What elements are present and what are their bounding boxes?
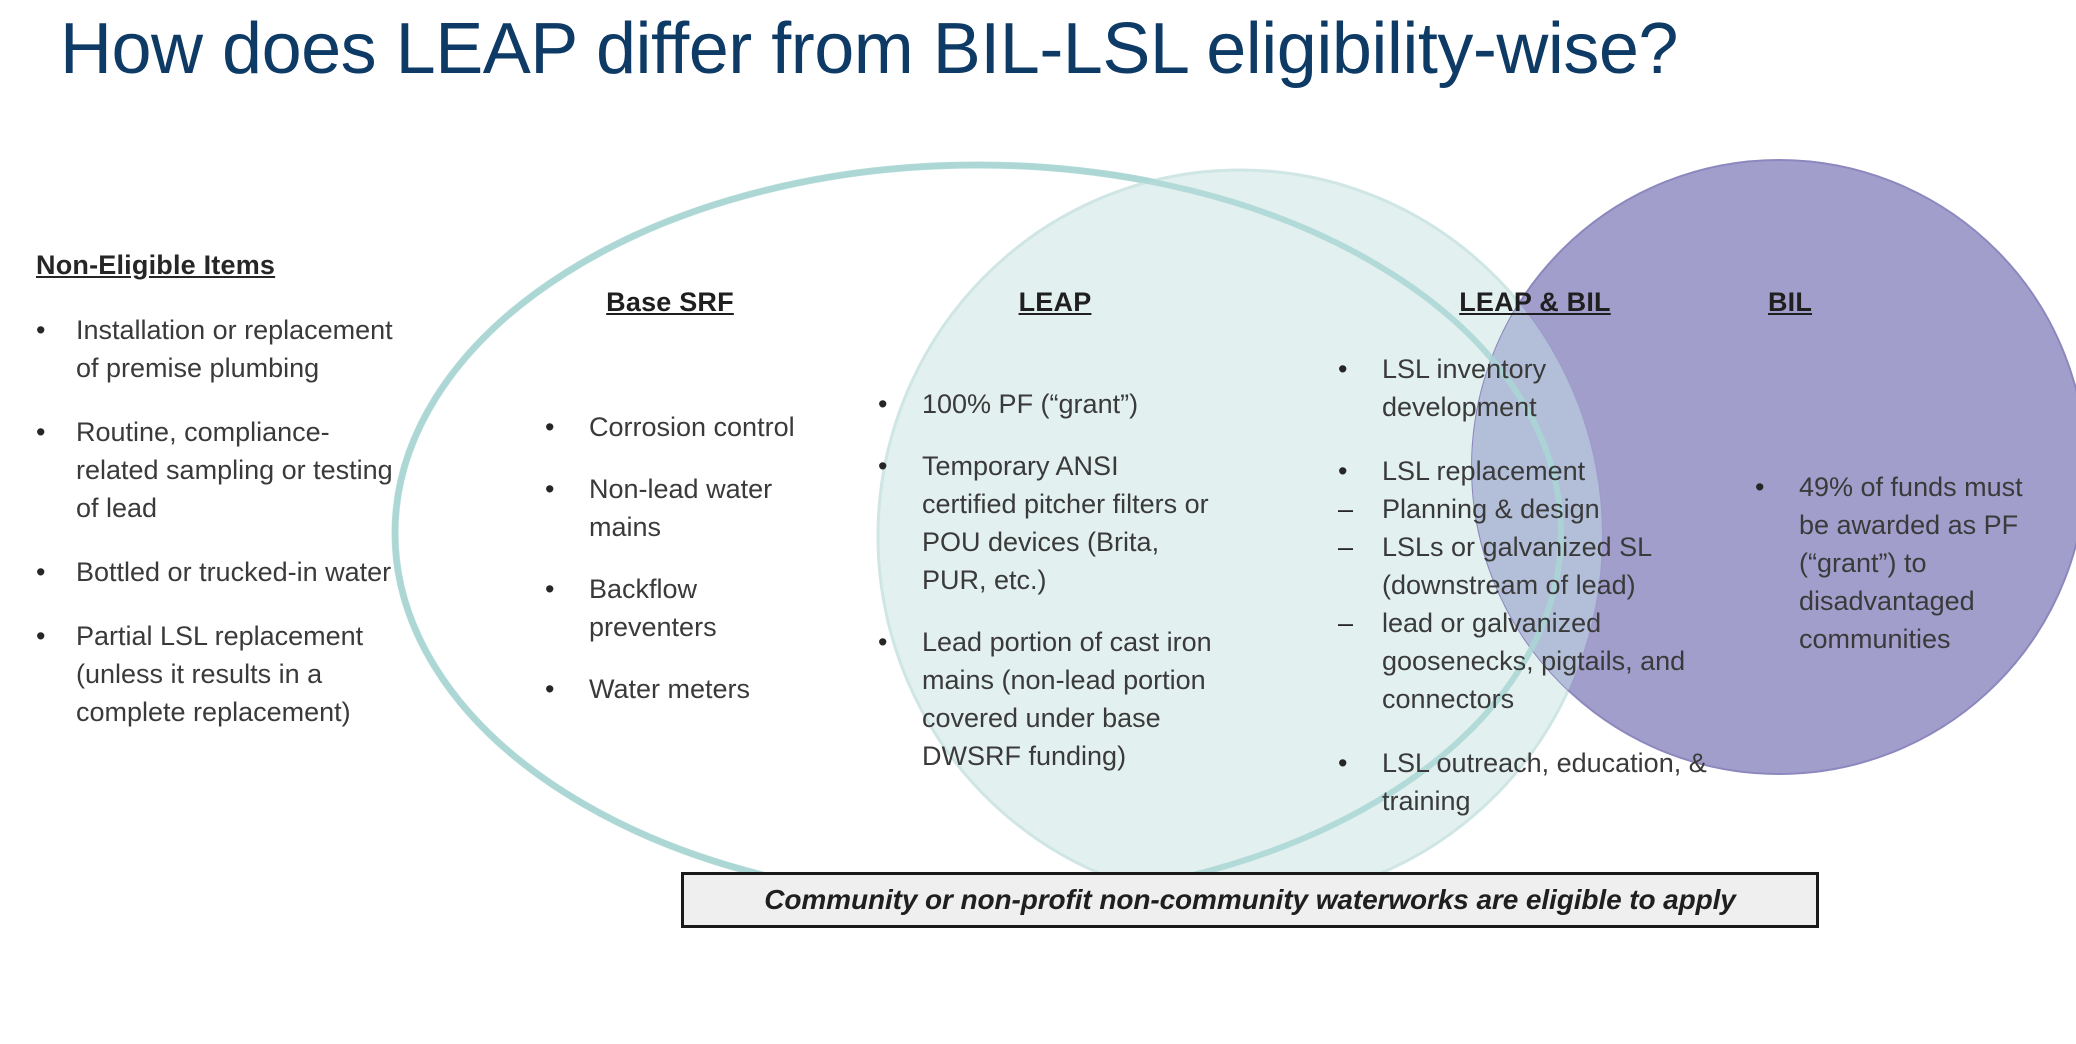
list-item: – Planning & design: [1338, 490, 1708, 528]
bullet-icon: •: [545, 408, 589, 446]
bullet-icon: •: [36, 617, 76, 731]
base-srf-list: • Corrosion control • Non-lead water mai…: [545, 408, 795, 732]
list-item: • Corrosion control: [545, 408, 795, 446]
list-item: • 49% of funds must be awarded as PF (“g…: [1755, 468, 2055, 658]
list-item: • Temporary ANSI certified pitcher filte…: [878, 447, 1218, 599]
list-item-label: 100% PF (“grant”): [922, 385, 1138, 423]
list-item: • LSL outreach, education, & training: [1338, 744, 1708, 820]
list-item: • Lead portion of cast iron mains (non-l…: [878, 623, 1218, 775]
list-item-label: Planning & design: [1382, 490, 1600, 528]
leap-column: LEAP: [960, 287, 1150, 318]
leap-and-bil-column: LEAP & BIL: [1385, 287, 1685, 318]
list-item: • Bottled or trucked-in water: [36, 553, 396, 591]
list-item-label: Backflow preventers: [589, 570, 795, 646]
bullet-icon: •: [1338, 452, 1382, 490]
bullet-icon: •: [36, 311, 76, 387]
bullet-icon: •: [36, 413, 76, 527]
non-eligible-heading: Non-Eligible Items: [36, 250, 396, 281]
bullet-icon: •: [878, 623, 922, 775]
list-item-label: LSL outreach, education, & training: [1382, 744, 1708, 820]
dash-icon: –: [1338, 528, 1382, 604]
bil-list: • 49% of funds must be awarded as PF (“g…: [1755, 468, 2055, 682]
list-item: • Partial LSL replacement (unless it res…: [36, 617, 396, 731]
bullet-icon: •: [36, 553, 76, 591]
bullet-icon: •: [1338, 744, 1382, 820]
list-item: • Backflow preventers: [545, 570, 795, 646]
list-item-label: LSL inventory development: [1382, 350, 1708, 426]
dash-icon: –: [1338, 490, 1382, 528]
list-item-label: Lead portion of cast iron mains (non-lea…: [922, 623, 1218, 775]
list-item: • LSL inventory development: [1338, 350, 1708, 426]
bullet-icon: •: [878, 447, 922, 599]
bullet-icon: •: [1755, 468, 1799, 658]
base-srf-heading: Base SRF: [555, 287, 785, 318]
leap-heading: LEAP: [960, 287, 1150, 318]
list-item: • LSL replacement: [1338, 452, 1708, 490]
list-item-label: LSLs or galvanized SL (downstream of lea…: [1382, 528, 1708, 604]
list-item-label: Water meters: [589, 670, 750, 708]
slide-canvas: How does LEAP differ from BIL-LSL eligib…: [0, 0, 2076, 1044]
list-item-label: lead or galvanized goosenecks, pigtails,…: [1382, 604, 1708, 718]
list-item: • Non-lead water mains: [545, 470, 795, 546]
list-item-label: Non-lead water mains: [589, 470, 795, 546]
bullet-icon: •: [878, 385, 922, 423]
list-item: • Water meters: [545, 670, 795, 708]
list-item-label: Corrosion control: [589, 408, 795, 446]
bullet-icon: •: [545, 670, 589, 708]
leap-list: • 100% PF (“grant”) • Temporary ANSI cer…: [878, 385, 1218, 799]
bullet-icon: •: [545, 470, 589, 546]
eligibility-banner-text: Community or non-profit non-community wa…: [764, 884, 1736, 916]
bullet-icon: •: [1338, 350, 1382, 426]
leap-and-bil-heading: LEAP & BIL: [1385, 287, 1685, 318]
dash-icon: –: [1338, 604, 1382, 718]
list-item-label: Routine, compliance-related sampling or …: [76, 413, 396, 527]
list-item-label: Bottled or trucked-in water: [76, 553, 391, 591]
list-item: • Routine, compliance-related sampling o…: [36, 413, 396, 527]
list-item-label: 49% of funds must be awarded as PF (“gra…: [1799, 468, 2055, 658]
list-item: – lead or galvanized goosenecks, pigtail…: [1338, 604, 1708, 718]
base-srf-column: Base SRF: [555, 287, 785, 318]
list-item: • Installation or replacement of premise…: [36, 311, 396, 387]
list-item-label: Installation or replacement of premise p…: [76, 311, 396, 387]
leap-and-bil-list: • LSL inventory development • LSL replac…: [1338, 350, 1708, 820]
non-eligible-items-column: Non-Eligible Items • Installation or rep…: [36, 250, 396, 757]
list-item: – LSLs or galvanized SL (downstream of l…: [1338, 528, 1708, 604]
eligibility-banner: Community or non-profit non-community wa…: [681, 872, 1819, 928]
list-item-label: Temporary ANSI certified pitcher filters…: [922, 447, 1218, 599]
bil-heading: BIL: [1705, 287, 1875, 318]
list-item-label: LSL replacement: [1382, 452, 1585, 490]
list-item-label: Partial LSL replacement (unless it resul…: [76, 617, 396, 731]
bil-column: BIL: [1705, 287, 1875, 318]
list-item: • 100% PF (“grant”): [878, 385, 1218, 423]
bullet-icon: •: [545, 570, 589, 646]
